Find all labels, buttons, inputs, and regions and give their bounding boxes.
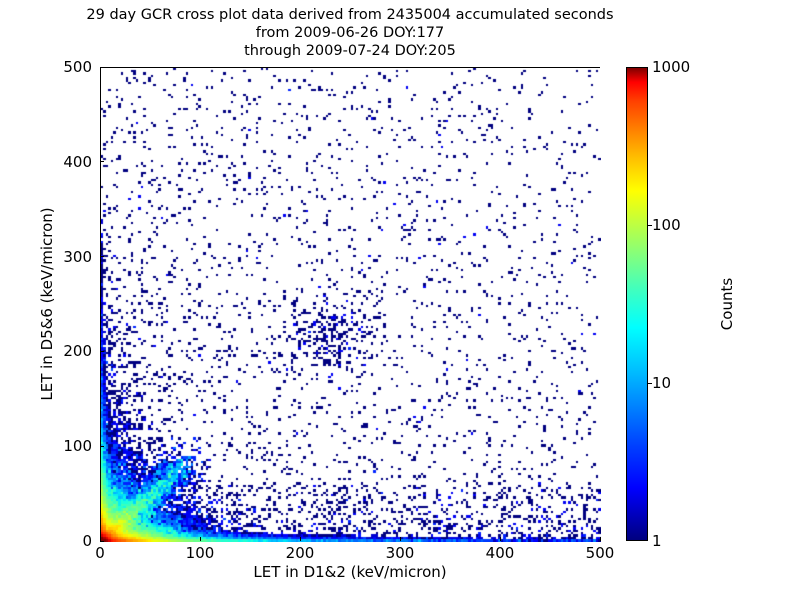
plot-area <box>100 67 600 541</box>
y-tick-mark <box>100 541 104 542</box>
colorbar-tick-label: 100 <box>652 216 681 234</box>
y-tick-mark <box>100 446 104 447</box>
colorbar-tick-label: 1000 <box>652 58 690 76</box>
plot-title: 29 day GCR cross plot data derived from … <box>0 6 700 60</box>
y-tick-mark <box>100 67 104 68</box>
x-tick-label: 400 <box>486 544 515 562</box>
colorbar-gradient <box>627 68 647 540</box>
x-tick-mark <box>400 537 401 541</box>
title-line-3: through 2009-07-24 DOY:205 <box>0 42 700 60</box>
colorbar-tick-label: 1 <box>652 532 662 550</box>
colorbar <box>626 67 648 541</box>
x-tick-label: 200 <box>286 544 315 562</box>
x-tick-label: 0 <box>95 544 105 562</box>
x-tick-mark <box>300 537 301 541</box>
title-line-1: 29 day GCR cross plot data derived from … <box>0 6 700 24</box>
x-tick-label: 500 <box>586 544 615 562</box>
y-tick-mark <box>100 351 104 352</box>
colorbar-label: Counts <box>718 67 736 541</box>
x-tick-mark <box>200 537 201 541</box>
y-tick-mark <box>100 256 104 257</box>
title-line-2: from 2009-06-26 DOY:177 <box>0 24 700 42</box>
x-tick-label: 100 <box>186 544 215 562</box>
x-tick-label: 300 <box>386 544 415 562</box>
heatmap-scatter-layer <box>101 68 601 542</box>
x-axis-label: LET in D1&2 (keV/micron) <box>100 563 600 581</box>
figure-canvas: 29 day GCR cross plot data derived from … <box>0 0 800 600</box>
x-tick-mark <box>600 537 601 541</box>
y-axis-label: LET in D5&6 (keV/micron) <box>38 67 56 541</box>
x-tick-mark <box>500 537 501 541</box>
colorbar-tick-label: 10 <box>652 374 671 392</box>
y-tick-mark <box>100 161 104 162</box>
